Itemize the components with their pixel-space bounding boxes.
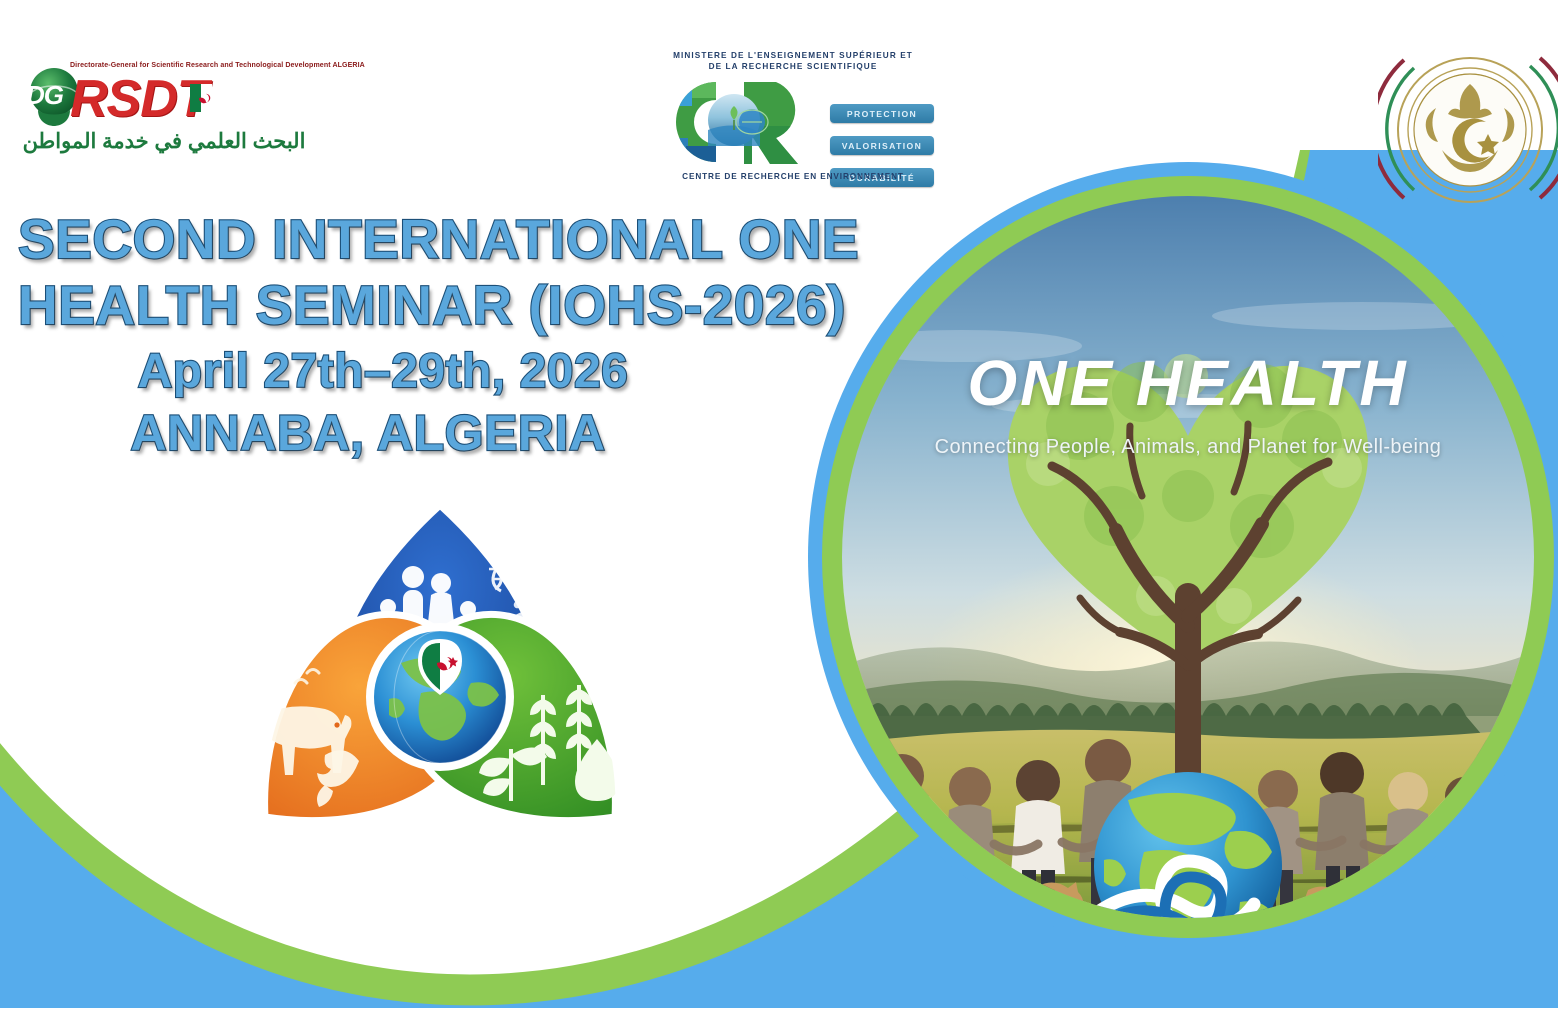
dgrsdt-tagline-arabic: البحث العلمي في خدمة المواطن <box>14 128 314 156</box>
dgrsdt-dg-letters: DG <box>26 80 63 111</box>
one-health-scene-illustration <box>842 196 1534 918</box>
cre-ministry-text: MINISTERE DE L'ENSEIGNEMENT SUPÉRIEUR ET… <box>648 50 938 72</box>
cre-badge-protection: PROTECTION <box>830 104 934 123</box>
one-health-triquetra-logo <box>225 487 655 877</box>
dgrsdt-wordmark: DG RSDT <box>8 66 318 128</box>
logo-cre: MINISTERE DE L'ENSEIGNEMENT SUPÉRIEUR ET… <box>648 50 938 190</box>
photo-headline: ONE HEALTH <box>842 346 1534 420</box>
title-location: ANNABA, ALGERIA <box>18 407 718 460</box>
bottom-white-strip <box>0 1008 1558 1018</box>
poster-title: SECOND INTERNATIONAL ONE HEALTH SEMINAR … <box>18 210 898 460</box>
cre-mark: PROTECTION VALORISATION DURABILITÉ <box>648 76 938 168</box>
poster-header: Directorate-General for Scientific Resea… <box>0 0 1558 200</box>
logo-dgrsdt: Directorate-General for Scientific Resea… <box>8 52 318 162</box>
cre-ministry-line1: MINISTERE DE L'ENSEIGNEMENT SUPÉRIEUR ET <box>648 50 938 61</box>
cre-badge-valorisation: VALORISATION <box>830 136 934 155</box>
title-line-1: SECOND INTERNATIONAL ONE <box>18 210 898 268</box>
cre-logo-icon <box>648 76 828 168</box>
globe-center <box>366 623 514 771</box>
ministry-seal-icon <box>1378 38 1558 218</box>
title-dates: April 27th–29th, 2026 <box>18 347 748 398</box>
cre-badge-list: PROTECTION VALORISATION DURABILITÉ <box>830 104 938 200</box>
photo-content: ONE HEALTH Connecting People, Animals, a… <box>842 196 1534 918</box>
cre-center-name: CENTRE DE RECHERCHE EN ENVIRONNEMENT <box>648 172 938 181</box>
algeria-flag-icon <box>190 84 212 112</box>
title-line-2: HEALTH SEMINAR (IOHS-2026) <box>18 276 898 334</box>
logo-ministry-seal <box>1378 38 1558 218</box>
one-health-photo-circle: ONE HEALTH Connecting People, Animals, a… <box>808 162 1558 952</box>
dgrsdt-rsdt-letters: RSDT <box>70 70 208 128</box>
cre-ministry-line2: DE LA RECHERCHE SCIENTIFIQUE <box>648 61 938 72</box>
photo-tagline: Connecting People, Animals, and Planet f… <box>842 436 1534 459</box>
